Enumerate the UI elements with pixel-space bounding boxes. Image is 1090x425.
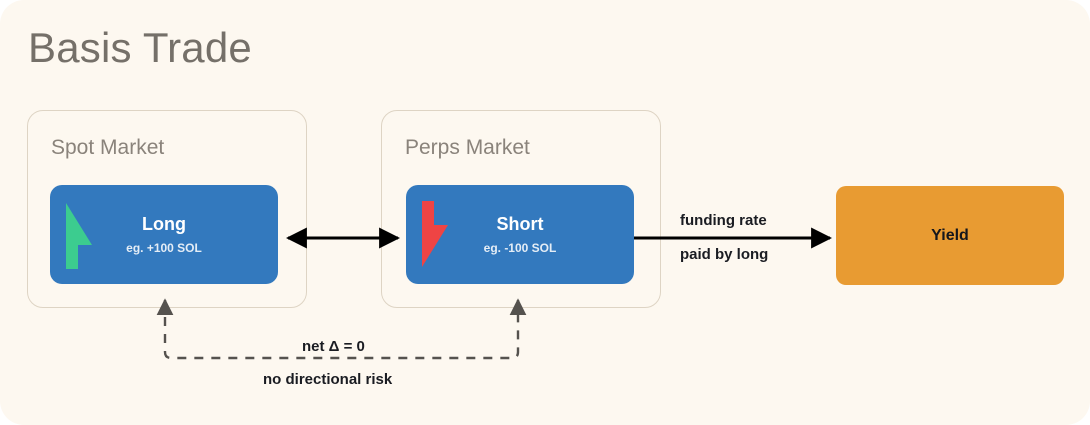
position-box-long[interactable]: Long eg. +100 SOL (50, 185, 278, 284)
position-label-short: Short (406, 214, 634, 235)
edge-label-net-delta: net Δ = 0 (0, 338, 1090, 355)
edge-label-no-directional-risk: no directional risk (0, 371, 1090, 388)
yield-box[interactable]: Yield (836, 186, 1064, 285)
yield-label: Yield (836, 227, 1064, 245)
position-box-short[interactable]: Short eg. -100 SOL (406, 185, 634, 284)
arrow-down-red-icon (418, 201, 452, 269)
position-label-long: Long (50, 214, 278, 235)
diagram-canvas: Basis Trade Spot Market Long eg. +100 SO… (0, 0, 1090, 425)
arrow-up-green-icon (62, 201, 96, 269)
position-sublabel-short: eg. -100 SOL (406, 241, 634, 255)
page-title: Basis Trade (28, 25, 252, 71)
edge-label-funding-rate: funding rate (680, 212, 767, 229)
position-sublabel-long: eg. +100 SOL (50, 241, 278, 255)
market-card-title-perps: Perps Market (405, 136, 530, 160)
edge-label-paid-by-long: paid by long (680, 246, 768, 263)
market-card-title-spot: Spot Market (51, 136, 164, 160)
